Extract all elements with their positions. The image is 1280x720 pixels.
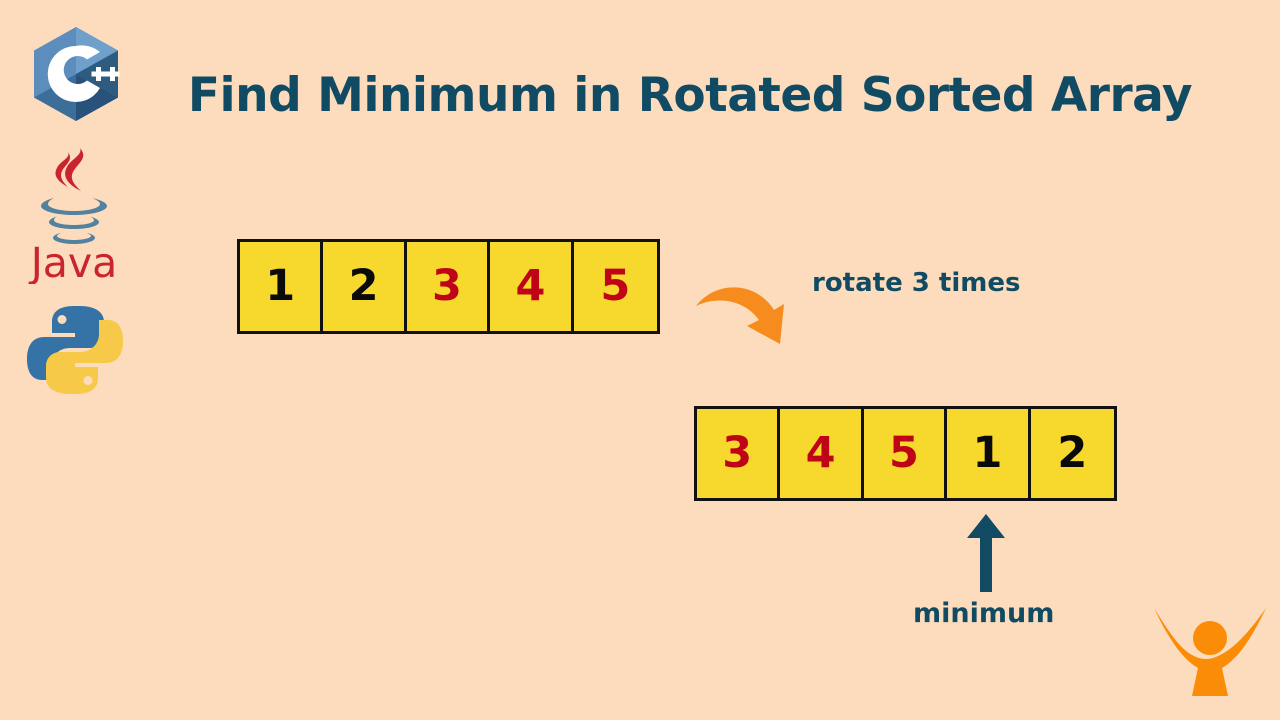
rotate-label: rotate 3 times: [812, 268, 1020, 298]
java-logo: Java: [28, 142, 120, 284]
cpp-logo: [24, 22, 128, 126]
array-cell: 5: [574, 242, 657, 331]
slide-canvas: Find Minimum in Rotated Sorted Array: [0, 0, 1280, 720]
array-cell: 4: [780, 409, 863, 498]
array-rotated: 3 4 5 1 2: [694, 406, 1117, 501]
minimum-arrow-icon: [963, 512, 1009, 594]
minimum-label: minimum: [913, 598, 1054, 629]
array-original: 1 2 3 4 5: [237, 239, 660, 334]
svg-text:Java: Java: [28, 239, 117, 284]
brand-logo: [1148, 596, 1272, 708]
page-title: Find Minimum in Rotated Sorted Array: [160, 68, 1220, 123]
array-cell: 2: [323, 242, 406, 331]
python-logo-icon: [22, 302, 128, 398]
python-logo: [22, 302, 128, 398]
array-cell: 3: [697, 409, 780, 498]
array-cell: 5: [864, 409, 947, 498]
array-cell: 4: [490, 242, 573, 331]
array-cell: 1: [240, 242, 323, 331]
cpp-logo-icon: [24, 22, 128, 126]
brand-logo-icon: [1148, 596, 1272, 708]
array-cell: 3: [407, 242, 490, 331]
rotate-arrow-icon: [694, 282, 809, 382]
array-cell-minimum: 1: [947, 409, 1030, 498]
array-cell: 2: [1031, 409, 1114, 498]
java-logo-icon: Java: [28, 142, 120, 284]
